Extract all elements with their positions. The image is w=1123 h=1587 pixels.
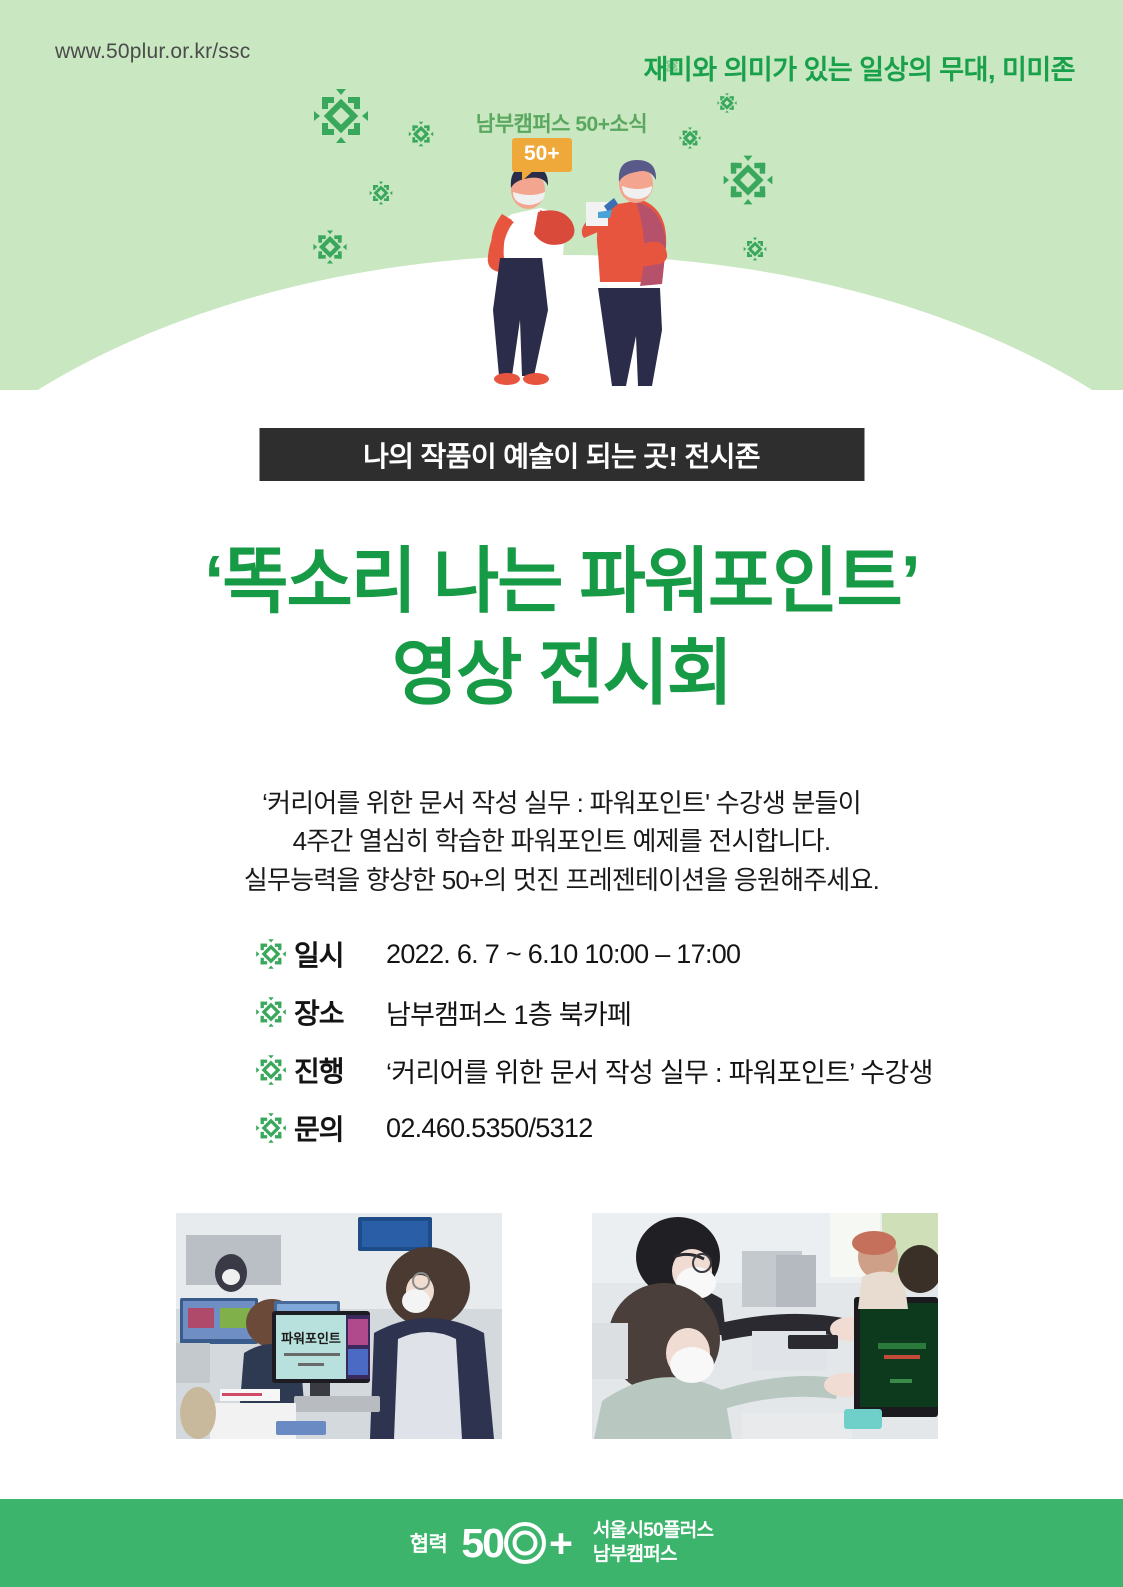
organization-name: 서울시50플러스 남부캠퍼스	[593, 1519, 713, 1567]
description-line-3: 실무능력을 향상한 50+의 멋진 프레젠테이션을 응원해주세요.	[0, 861, 1123, 899]
svg-text:파워포인트: 파워포인트	[281, 1331, 341, 1346]
description-line-2: 4주간 열심히 학습한 파워포인트 예제를 전시합니다.	[0, 822, 1123, 860]
info-label-location: 장소	[294, 992, 372, 1032]
description: ‘커리어를 위한 문서 작성 실무 : 파워포인트' 수강생 분들이 4주간 열…	[0, 784, 1123, 899]
coop-label: 협력	[410, 1528, 448, 1558]
poster-footer: 협력 50 + 서울시50플러스 남부캠퍼스	[0, 1499, 1123, 1587]
description-line-1: ‘커리어를 위한 문서 작성 실무 : 파워포인트' 수강생 분들이	[0, 784, 1123, 822]
info-label-datetime: 일시	[294, 934, 372, 974]
ornament-icon	[254, 937, 288, 971]
ornament-icon	[254, 995, 288, 1029]
poster-root: 50+ www.50plur.or.kr/ssc 재미와 의미가 있는 일상의 …	[0, 0, 1123, 1587]
info-row-contact: 문의 02.460.5350/5312	[254, 1108, 933, 1148]
news-label: 남부캠퍼스 50+소식	[476, 108, 647, 138]
title-line-2: 영상 전시회	[0, 628, 1123, 720]
people-illustration: 50+	[440, 140, 690, 390]
logo-plus: +	[549, 1523, 573, 1564]
classroom-photo-right	[592, 1213, 938, 1439]
classroom-photo-left: 파워포인트	[176, 1213, 502, 1439]
logo-ring-icon	[504, 1522, 546, 1564]
person-left	[488, 166, 575, 385]
site-url[interactable]: www.50plur.or.kr/ssc	[55, 40, 250, 64]
info-value-datetime: 2022. 6. 7 ~ 6.10 10:00 – 17:00	[386, 939, 740, 970]
footer-logo-group: 협력 50 + 서울시50플러스 남부캠퍼스	[410, 1519, 714, 1567]
logo-number: 50	[461, 1523, 503, 1564]
ornament-icon	[254, 1111, 288, 1145]
info-value-contact: 02.460.5350/5312	[386, 1113, 593, 1144]
tagline: 재미와 의미가 있는 일상의 무대, 미미존	[644, 48, 1075, 87]
person-right	[582, 160, 667, 386]
ornament-icon	[310, 85, 372, 147]
info-label-contact: 문의	[294, 1108, 372, 1148]
organization-line-2: 남부캠퍼스	[593, 1543, 713, 1567]
banner-text: 나의 작품이 예술이 되는 곳! 전시존	[363, 435, 760, 475]
badge-50plus: 50+	[512, 138, 572, 172]
info-value-location: 남부캠퍼스 1층 북카페	[386, 993, 631, 1032]
info-label-host: 진행	[294, 1050, 372, 1090]
ornament-icon	[368, 180, 394, 206]
ornament-icon	[720, 152, 776, 208]
info-row-datetime: 일시 2022. 6. 7 ~ 6.10 10:00 – 17:00	[254, 934, 933, 974]
ornament-icon	[407, 120, 435, 148]
ornament-icon	[716, 92, 738, 114]
info-row-host: 진행 ‘커리어를 위한 문서 작성 실무 : 파워포인트’ 수강생	[254, 1050, 933, 1090]
poster-header: 50+ www.50plur.or.kr/ssc 재미와 의미가 있는 일상의 …	[0, 0, 1123, 390]
ornament-icon	[254, 1053, 288, 1087]
ornament-icon	[311, 228, 349, 266]
event-info-list: 일시 2022. 6. 7 ~ 6.10 10:00 – 17:00	[254, 934, 933, 1148]
subtitle-banner: 나의 작품이 예술이 되는 곳! 전시존	[259, 428, 864, 481]
info-value-host: ‘커리어를 위한 문서 작성 실무 : 파워포인트’ 수강생	[386, 1051, 933, 1090]
page-title: ‘똑소리 나는 파워포인트’ 영상 전시회	[0, 536, 1123, 720]
organization-line-1: 서울시50플러스	[593, 1519, 713, 1543]
ornament-icon	[742, 236, 768, 262]
logo-50plus: 50 +	[461, 1522, 573, 1564]
info-row-location: 장소 남부캠퍼스 1층 북카페	[254, 992, 933, 1032]
title-line-1: ‘똑소리 나는 파워포인트’	[0, 536, 1123, 628]
